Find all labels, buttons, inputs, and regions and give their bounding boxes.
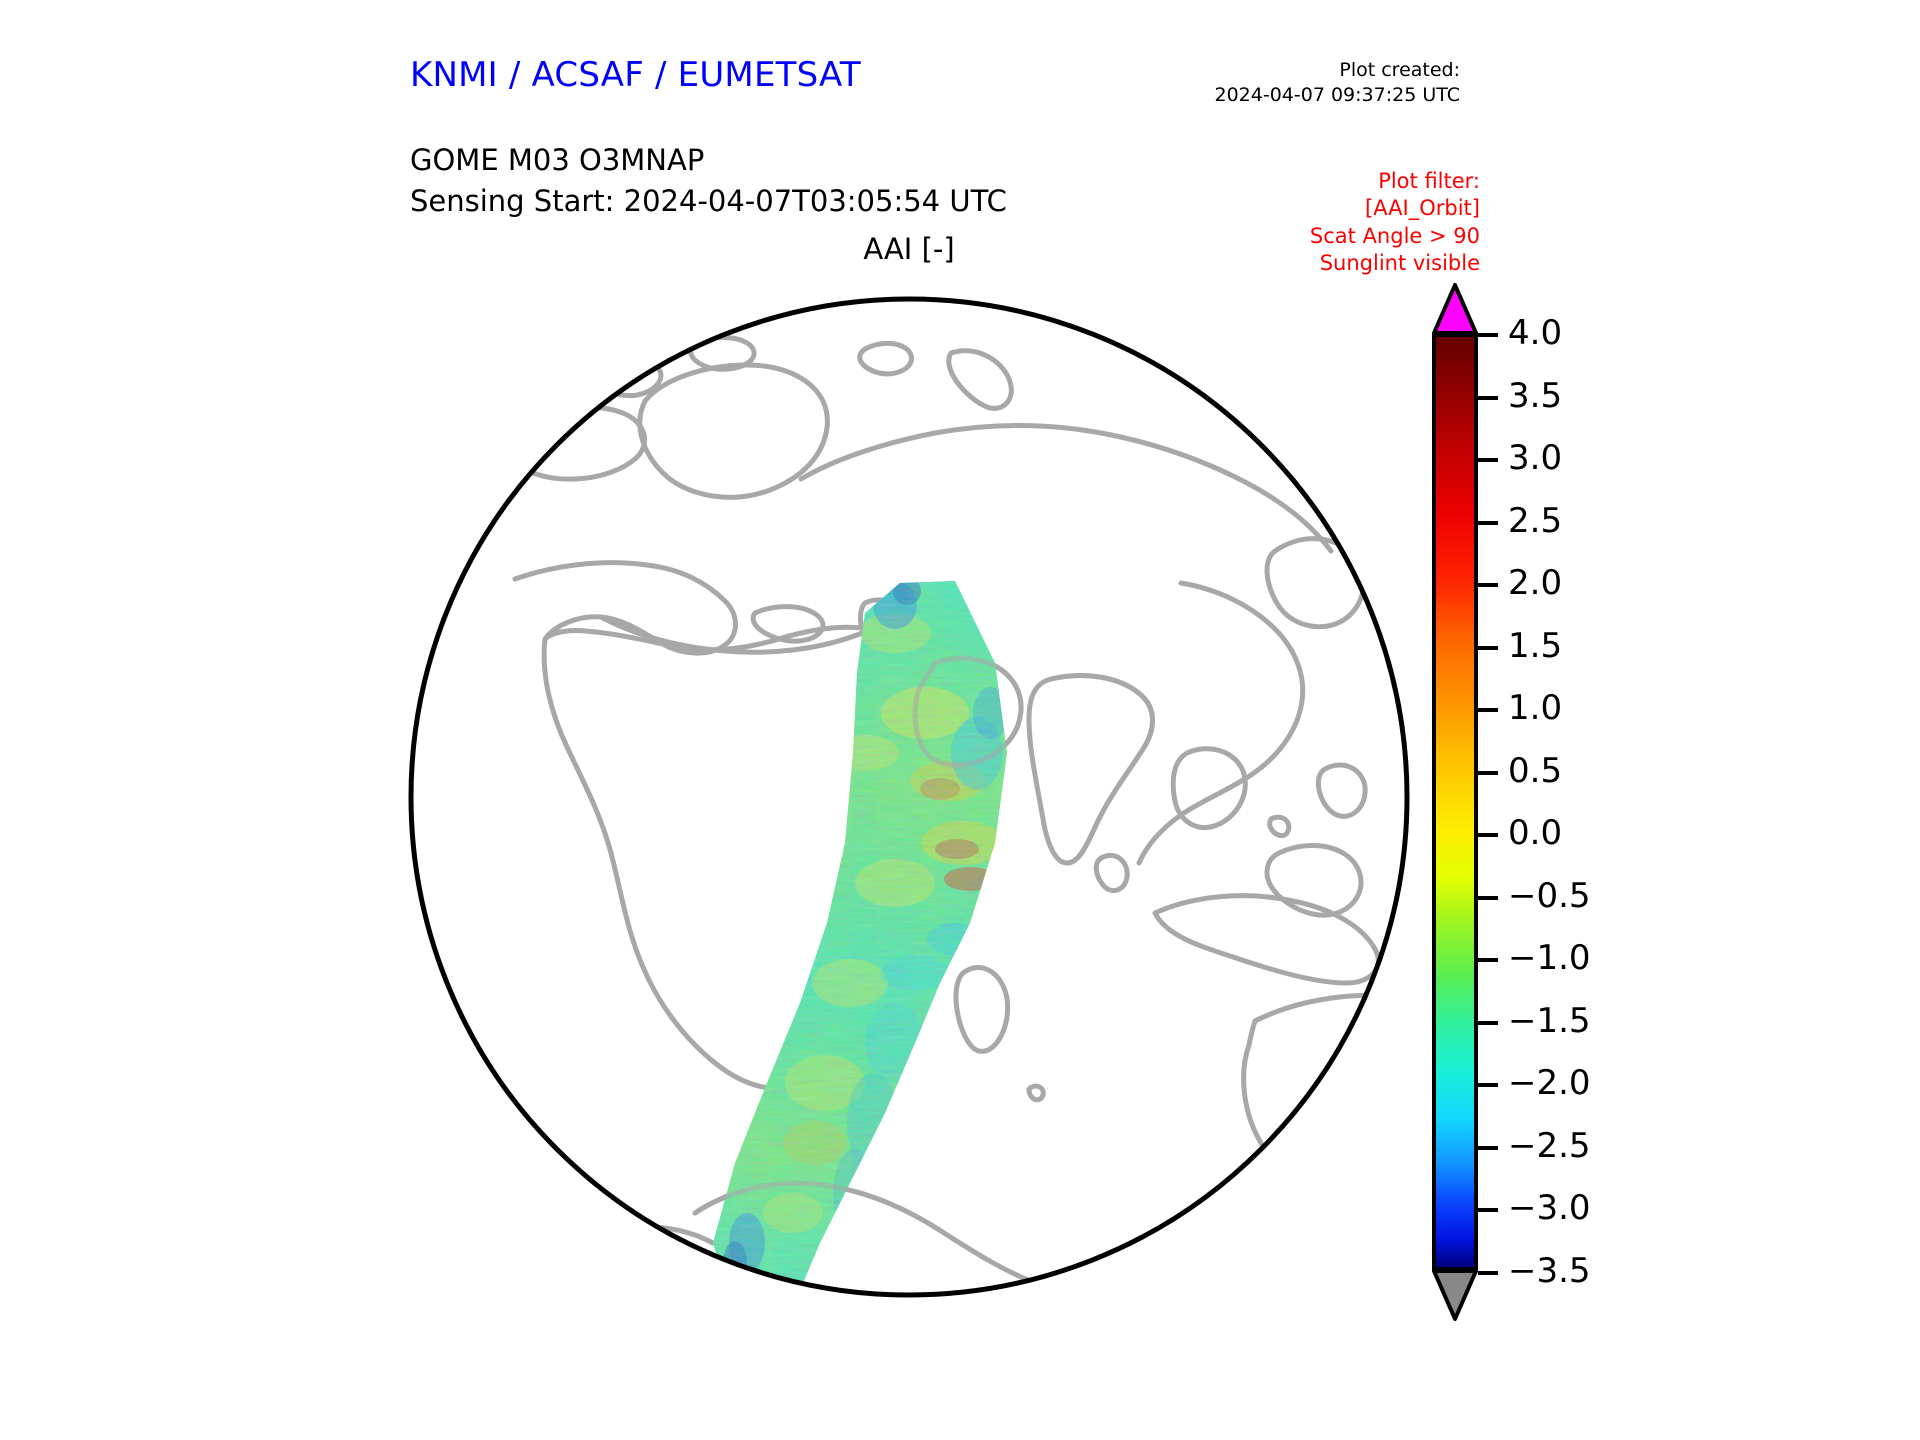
colorbar-gradient [1432,333,1478,1271]
coastline-island-hainan [1270,817,1289,835]
colorbar-tick-label: −3.5 [1508,1254,1591,1288]
colorbar-tick-mark [1478,833,1498,837]
colorbar-over-arrow [1432,283,1478,335]
colorbar-tick-label: −1.5 [1508,1004,1591,1038]
coastline-new-guinea [1404,906,1423,971]
coastline-svalbard [860,343,912,374]
colorbar-tick-label: −3.0 [1508,1191,1591,1225]
coastline-philippines [1318,765,1365,816]
coastline-canadian-arctic [509,407,645,479]
plot-created-label: Plot created: [1215,58,1461,83]
colorbar-tick-mark [1478,896,1498,900]
colorbar-tick-mark [1478,646,1498,650]
colorbar-tick-label: 3.0 [1508,441,1562,475]
coastline-island-reunion [1029,1086,1043,1100]
coastline-indochina [1173,749,1245,828]
colorbar-tick-label: −2.0 [1508,1066,1591,1100]
map-svg [395,283,1423,1311]
colorbar-tick-label: 1.0 [1508,691,1562,725]
colorbar-tick-mark [1478,1208,1498,1212]
product-title-block: GOME M03 O3MNAP Sensing Start: 2024-04-0… [410,140,1007,222]
colorbar-tick-label: 1.5 [1508,629,1562,663]
colorbar-tick-label: −1.0 [1508,941,1591,975]
colorbar-tick-label: 0.5 [1508,754,1562,788]
sensing-start: Sensing Start: 2024-04-07T03:05:54 UTC [410,181,1007,222]
coastline-overlay-india [1051,676,1153,863]
colorbar-tick-mark [1478,1271,1498,1275]
colorbar-tick-mark [1478,396,1498,400]
colorbar-tick-mark [1478,708,1498,712]
colorbar-tick-mark [1478,771,1498,775]
plot-filter-line-1: Scat Angle > 90 [1310,223,1480,250]
colorbar-tick-label: −0.5 [1508,879,1591,913]
colorbar-tick-mark [1478,458,1498,462]
coastline-madagascar [956,967,1008,1051]
colorbar-tick-label: −2.5 [1508,1129,1591,1163]
colorbar-tick-label: 0.0 [1508,816,1562,850]
colorbar-tick-mark [1478,958,1498,962]
colorbar-tick-mark [1478,521,1498,525]
variable-title: AAI [-] [395,232,1423,266]
colorbar-under-arrow [1432,1267,1478,1321]
colorbar-tick-mark [1478,1021,1498,1025]
colorbar-tick-label: 4.0 [1508,316,1562,350]
colorbar-tick-mark [1478,333,1498,337]
colorbar-tick-label: 2.0 [1508,566,1562,600]
plot-filter-title: Plot filter: [1310,168,1480,195]
colorbar-tick-mark [1478,1083,1498,1087]
coastline-novaya-zemlya [949,351,1012,409]
coastline-eurasia-north [801,426,1331,552]
plot-filter-line-2: Sunglint visible [1310,250,1480,277]
colorbar-tick-label: 2.5 [1508,504,1562,538]
coastline-sri-lanka [1096,855,1127,890]
colorbar-panel: 4.03.53.02.52.01.51.00.50.0−0.5−1.0−1.5−… [1424,278,1754,1338]
colorbar-tick-mark [1478,1146,1498,1150]
coastline-australia [1244,995,1423,1197]
plot-created-block: Plot created: 2024-04-07 09:37:25 UTC [1215,58,1461,108]
plot-filter-block: Plot filter: [AAI_Orbit] Scat Angle > 90… [1310,168,1480,277]
coastline-korea-japan [1267,539,1364,627]
colorbar-tick-mark [1478,583,1498,587]
plot-filter-line-0: [AAI_Orbit] [1310,195,1480,222]
institutions-header: KNMI / ACSAF / EUMETSAT [410,55,861,95]
product-name: GOME M03 O3MNAP [410,140,1007,181]
map-panel [395,283,1423,1311]
colorbar-tick-label: 3.5 [1508,379,1562,413]
plot-created-timestamp: 2024-04-07 09:37:25 UTC [1215,83,1461,108]
coastline-arctic-island-a [594,359,661,396]
